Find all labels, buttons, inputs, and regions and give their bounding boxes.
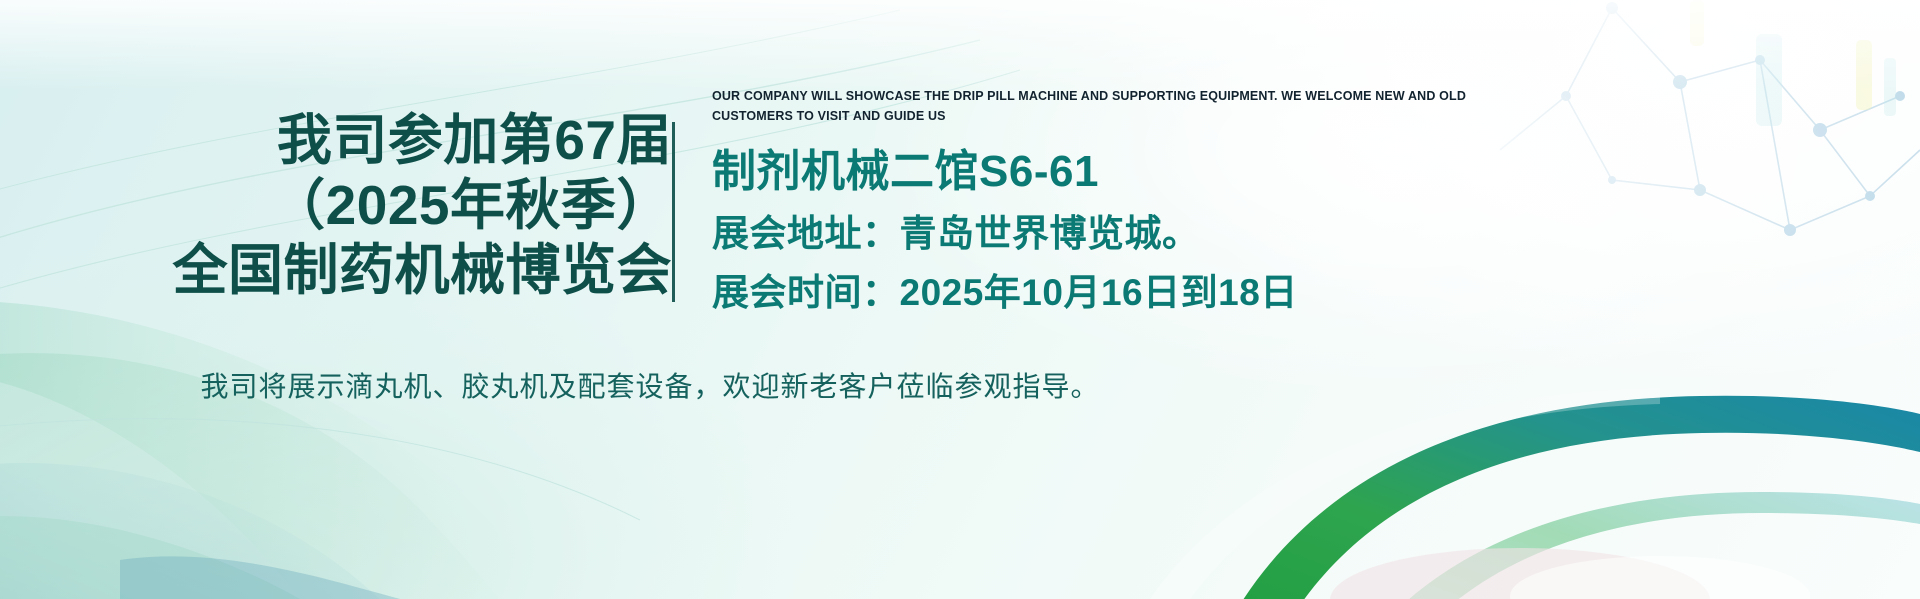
exhibition-banner: 我司参加第67届 （2025年秋季） 全国制药机械博览会 OUR COMPANY… [0, 0, 1920, 599]
event-title-line-3: 全国制药机械博览会 [0, 238, 672, 303]
gradient-arc [1150, 388, 1920, 599]
swoosh-group-left [0, 300, 560, 599]
event-title-line-2: （2025年秋季） [0, 173, 672, 238]
event-details: OUR COMPANY WILL SHOWCASE THE DRIP PILL … [712, 86, 1502, 314]
molecule-network [1500, 0, 1920, 236]
event-dates: 展会时间：2025年10月16日到18日 [712, 272, 1502, 313]
bottom-caption: 我司将展示滴丸机、胶丸机及配套设备，欢迎新老客户莅临参观指导。 [0, 365, 1300, 405]
vertical-divider [672, 122, 675, 302]
event-title: 我司参加第67届 （2025年秋季） 全国制药机械博览会 [0, 108, 672, 303]
english-note: OUR COMPANY WILL SHOWCASE THE DRIP PILL … [712, 86, 1472, 127]
booth-location: 制剂机械二馆S6-61 [712, 149, 1502, 195]
event-title-line-1: 我司参加第67届 [0, 108, 672, 173]
venue-address: 展会地址：青岛世界博览城。 [712, 213, 1502, 254]
